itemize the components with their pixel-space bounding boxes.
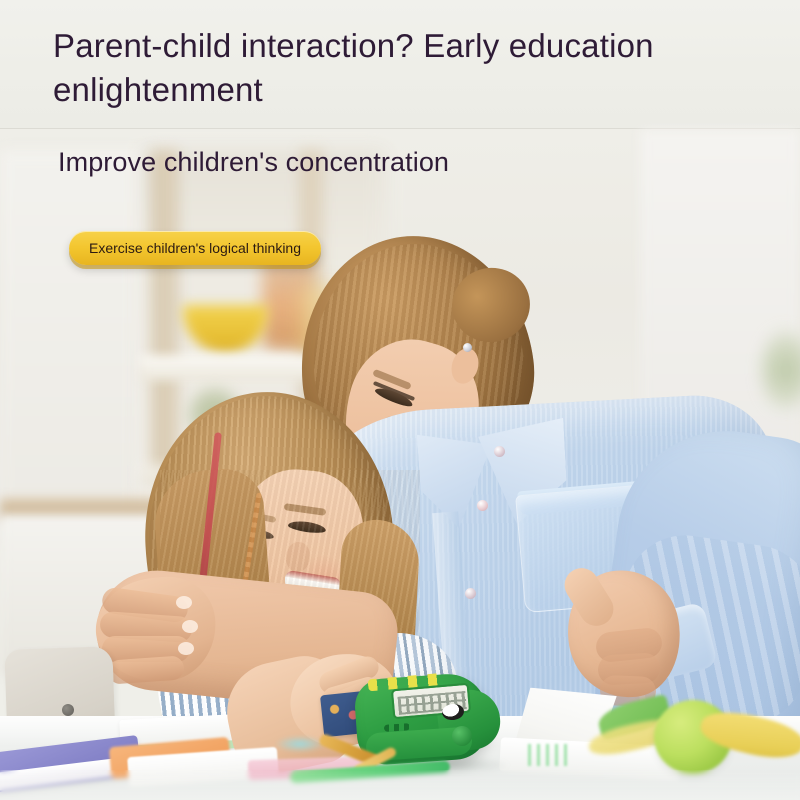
- mother-fingernail: [182, 620, 198, 633]
- feature-badge-label: Exercise children's logical thinking: [89, 240, 301, 256]
- subheadline-text: Improve children's concentration: [58, 146, 758, 178]
- mother-shirt-button: [465, 588, 476, 599]
- wall-left: [0, 150, 150, 550]
- mother-shirt-button: [477, 500, 488, 511]
- mother-fingernail: [178, 642, 194, 655]
- green-marks: [528, 744, 572, 766]
- shelf-post-left: [152, 150, 178, 480]
- mother-shirt-button: [494, 446, 505, 457]
- promo-banner: Parent-child interaction? Early educatio…: [0, 0, 800, 800]
- headline-text: Parent-child interaction? Early educatio…: [53, 24, 753, 112]
- chair-screw: [62, 704, 74, 716]
- scene-photograph: [0, 0, 800, 800]
- mother-earring: [463, 343, 472, 352]
- feature-badge: Exercise children's logical thinking: [69, 231, 321, 265]
- bottom-depth-blur: [0, 770, 800, 800]
- teal-object: [276, 736, 324, 752]
- mother-fingernail: [176, 596, 192, 609]
